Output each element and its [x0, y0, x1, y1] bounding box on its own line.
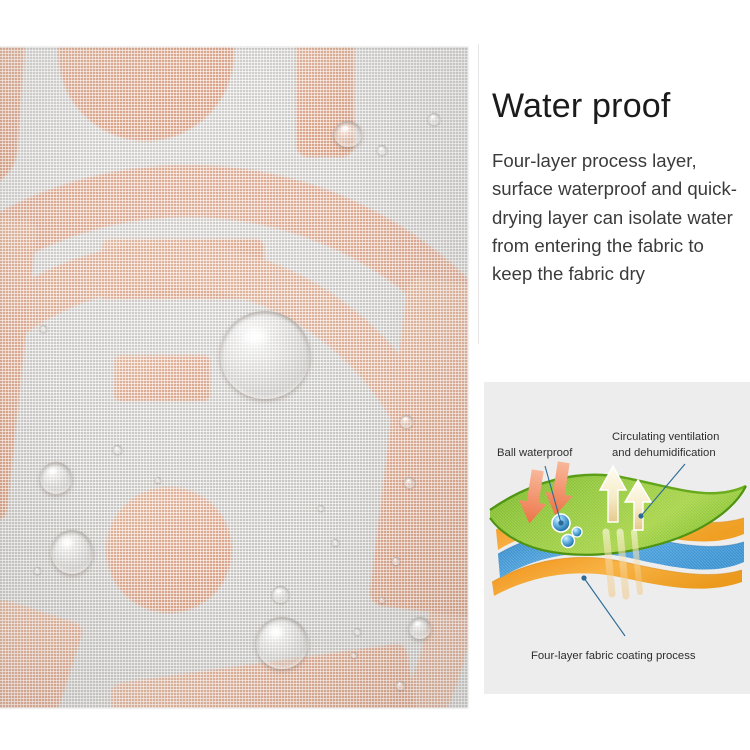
water-droplet: [155, 477, 161, 483]
water-droplet: [334, 121, 362, 147]
leader-dot-four-layer: [581, 575, 586, 580]
water-droplet: [332, 539, 339, 546]
water-droplet-large: [220, 311, 310, 399]
leader-four-layer: [584, 578, 625, 636]
label-ventilation-line2: and dehumidification: [612, 447, 716, 459]
leader-dot-ventilation: [638, 513, 643, 518]
water-droplet: [40, 325, 47, 332]
fabric-photo-frame: [0, 47, 468, 708]
page-title: Water proof: [492, 86, 746, 127]
water-droplet: [409, 617, 431, 639]
water-droplet: [51, 530, 93, 574]
water-droplet: [428, 113, 440, 125]
water-droplet: [377, 145, 387, 155]
vertical-divider: [478, 44, 479, 344]
feature-description: Four-layer process layer, surface waterp…: [492, 147, 746, 289]
water-droplet: [379, 597, 385, 603]
fabric-photo-panel: [0, 42, 474, 713]
water-droplet: [34, 567, 41, 574]
water-droplet: [404, 477, 415, 488]
product-infographic: Water proof Four-layer process layer, su…: [0, 0, 750, 750]
four-layer-fabric-diagram: Ball waterproof Circulating ventilation …: [484, 382, 750, 694]
water-droplet: [272, 586, 289, 603]
four-layer-diagram-panel: Ball waterproof Circulating ventilation …: [484, 382, 750, 694]
water-droplet: [113, 445, 122, 454]
label-four-layer-coating: Four-layer fabric coating process: [531, 650, 696, 662]
feature-text-panel: Water proof Four-layer process layer, su…: [484, 86, 746, 289]
leader-dot-ball: [558, 520, 563, 525]
water-droplet: [396, 681, 405, 690]
water-droplet: [354, 628, 361, 635]
water-droplet: [351, 652, 357, 658]
label-ventilation-line1: Circulating ventilation: [612, 431, 719, 443]
water-droplet: [256, 617, 308, 669]
fabric-photo-image: [0, 47, 468, 708]
water-droplet: [392, 557, 400, 565]
water-droplet: [318, 505, 324, 511]
water-droplet: [400, 415, 413, 428]
water-droplet: [40, 462, 72, 494]
label-ball-waterproof: Ball waterproof: [497, 447, 573, 459]
